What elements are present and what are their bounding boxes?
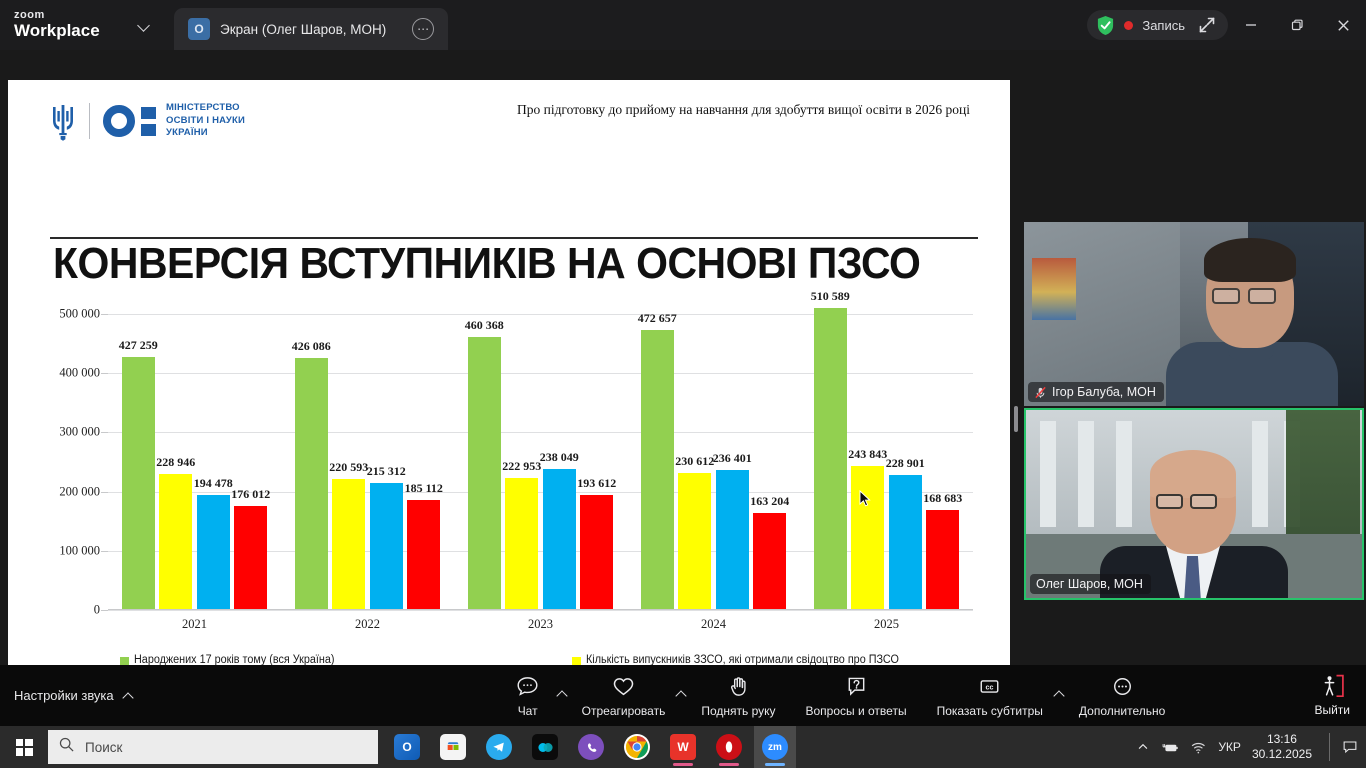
bar-slot: 243 843 (851, 314, 884, 610)
shield-check-icon (1096, 15, 1115, 36)
raise-hand-icon (726, 674, 751, 700)
windows-taskbar: Поиск O (0, 726, 1366, 768)
video-person-glasses-left (1212, 288, 1240, 304)
microsoft-store-icon (440, 734, 466, 760)
page-title: КОНВЕРСІЯ ВСТУПНИКІВ НА ОСНОВІ ПЗСО (53, 239, 918, 289)
clock-time: 13:16 (1252, 732, 1312, 747)
y-tick-label: 300 000 (59, 425, 100, 440)
bar (753, 513, 786, 610)
bar-slot: 238 049 (543, 314, 576, 610)
heart-icon (611, 674, 636, 700)
screen-share-tab[interactable]: O Экран (Олег Шаров, МОН) ⋯ (174, 8, 448, 50)
bar-slot: 176 012 (234, 314, 267, 610)
telegram-icon (486, 734, 512, 760)
app-active-underline (719, 763, 739, 766)
chart-x-axis (108, 609, 973, 610)
bar-group-bars: 460 368222 953238 049193 612 (468, 314, 613, 610)
bar-group-bars: 472 657230 612236 401163 204 (641, 314, 786, 610)
audio-settings-button[interactable]: Настройки звука (14, 688, 134, 703)
y-tick-label: 500 000 (59, 307, 100, 322)
bar-value-label: 215 312 (367, 464, 406, 479)
chat-label: Чат (518, 704, 538, 718)
bar (580, 495, 613, 610)
mon-circle-icon (103, 105, 135, 137)
ukraine-trident-icon (50, 101, 76, 141)
bar-value-label: 510 589 (811, 289, 850, 304)
bar-slot: 215 312 (370, 314, 403, 610)
bar (889, 475, 922, 611)
taskbar-apps: O (386, 726, 796, 768)
bar-slot: 426 086 (295, 314, 328, 610)
qa-label: Вопросы и ответы (806, 704, 907, 718)
bar-value-label: 194 478 (194, 476, 233, 491)
mic-muted-icon (1034, 386, 1047, 399)
windows-start-icon[interactable] (0, 726, 48, 768)
more-button[interactable]: Дополнительно (1071, 674, 1173, 718)
chat-icon (515, 674, 540, 700)
app-active-underline (765, 763, 785, 766)
video-person-hair (1204, 238, 1296, 282)
reactions-label: Отреагировать (582, 704, 666, 718)
bar (407, 500, 440, 610)
bar (197, 495, 230, 610)
close-button[interactable] (1320, 0, 1366, 50)
video-poster (1032, 258, 1076, 320)
participant-name: Олег Шаров, МОН (1036, 577, 1143, 591)
svg-text:cc: cc (986, 684, 994, 692)
bar (716, 470, 749, 610)
captions-button[interactable]: cc Показать субтитры (929, 674, 1051, 718)
bar-group: 460 368222 953238 049193 6122023 (454, 314, 627, 610)
y-tick-mark (101, 492, 108, 493)
ellipsis-circle-icon (1110, 674, 1135, 700)
more-label: Дополнительно (1079, 704, 1165, 718)
x-tick-label: 2024 (701, 617, 726, 632)
expand-icon[interactable] (1198, 16, 1216, 34)
logo-divider (89, 103, 90, 139)
viber-icon (578, 734, 604, 760)
search-placeholder: Поиск (85, 740, 122, 755)
bar-group: 427 259228 946194 478176 0122021 (108, 314, 281, 610)
mon-bars-icon (141, 107, 156, 136)
video-person-glasses-right (1248, 288, 1276, 304)
participant-name: Ігор Балуба, МОН (1052, 385, 1156, 399)
bar-group-bars: 427 259228 946194 478176 012 (122, 314, 267, 610)
video-person-hair (1150, 450, 1236, 498)
taskbar-app-telegram[interactable] (478, 726, 520, 768)
audio-settings-label: Настройки звука (14, 688, 114, 703)
leave-meeting-icon (1318, 673, 1346, 699)
webex-icon (532, 734, 558, 760)
participant-video-oleg[interactable]: Олег Шаров, МОН (1024, 408, 1364, 600)
chat-caret-icon[interactable] (556, 688, 568, 704)
bar (370, 483, 403, 610)
notification-icon[interactable] (1341, 739, 1358, 756)
captions-label: Показать субтитры (937, 704, 1043, 718)
bar-value-label: 228 946 (156, 455, 195, 470)
qa-icon (844, 674, 869, 700)
reactions-caret-icon[interactable] (675, 688, 687, 704)
bar-group: 426 086220 593215 312185 1122022 (281, 314, 454, 610)
clock[interactable]: 13:16 30.12.2025 (1252, 732, 1312, 762)
leave-meeting-button[interactable]: Выйти (1314, 673, 1350, 717)
video-person-glasses-left (1156, 494, 1183, 509)
opera-icon (716, 734, 742, 760)
y-tick-label: 200 000 (59, 484, 100, 499)
restore-button[interactable] (1274, 0, 1320, 50)
bar-slot: 193 612 (580, 314, 613, 610)
mon-mark: МІНІСТЕРСТВО ОСВІТИ І НАУКИ УКРАЇНИ (103, 102, 245, 140)
participant-video-igor[interactable]: Ігор Балуба, МОН (1024, 222, 1364, 406)
bar-value-label: 238 049 (540, 450, 579, 465)
tray-divider (1329, 733, 1330, 761)
zoom-icon: zm (762, 734, 788, 760)
y-tick-label: 0 (94, 603, 100, 618)
language-indicator[interactable]: УКР (1218, 740, 1241, 754)
bar (814, 308, 847, 610)
bar-value-label: 236 401 (713, 451, 752, 466)
bar (468, 337, 501, 610)
taskbar-app-viber[interactable] (570, 726, 612, 768)
bar (926, 510, 959, 610)
bar-slot: 185 112 (407, 314, 440, 610)
bar-slot: 427 259 (122, 314, 155, 610)
chrome-icon (624, 734, 650, 760)
captions-caret-icon[interactable] (1053, 688, 1065, 704)
reactions-button[interactable]: Отреагировать (574, 674, 674, 718)
bar (505, 478, 538, 610)
bar-chart: 0100 000200 000300 000400 000500 000 427… (41, 302, 981, 632)
bar-group: 472 657230 612236 401163 2042024 (627, 314, 800, 610)
y-tick-label: 100 000 (59, 543, 100, 558)
closed-captions-icon: cc (977, 674, 1002, 700)
chart-bar-groups: 427 259228 946194 478176 0122021426 0862… (108, 314, 973, 610)
bar-slot: 228 901 (889, 314, 922, 610)
bar-value-label: 193 612 (577, 476, 616, 491)
qa-button[interactable]: Вопросы и ответы (798, 674, 915, 718)
bar-group: 510 589243 843228 901168 6832025 (800, 314, 973, 610)
ministry-name-line1: МІНІСТЕРСТВО (166, 102, 245, 115)
y-tick-mark (101, 551, 108, 552)
caret-up-icon[interactable] (122, 690, 134, 702)
bar-value-label: 185 112 (405, 481, 443, 496)
tray-chevron-up-icon[interactable] (1134, 739, 1151, 756)
system-tray: УКР 13:16 30.12.2025 (1134, 732, 1366, 762)
wifi-icon[interactable] (1190, 739, 1207, 756)
x-tick-label: 2021 (182, 617, 207, 632)
zoom-logo-line2: Workplace (14, 22, 124, 40)
bar (851, 466, 884, 610)
bar-slot: 168 683 (926, 314, 959, 610)
raise-hand-label: Поднять руку (701, 704, 775, 718)
slide-header: МІНІСТЕРСТВО ОСВІТИ І НАУКИ УКРАЇНИ Про … (41, 90, 980, 152)
video-column (1252, 421, 1268, 526)
x-tick-label: 2022 (355, 617, 380, 632)
bar-value-label: 426 086 (292, 339, 331, 354)
recording-indicator[interactable]: Запись (1087, 10, 1228, 40)
more-options-icon[interactable]: ⋯ (412, 18, 434, 40)
taskbar-app-chrome[interactable] (616, 726, 658, 768)
bar (678, 473, 711, 610)
participant-name-badge: Ігор Балуба, МОН (1028, 382, 1164, 402)
titlebar-right-controls: Запись (1087, 0, 1366, 50)
bar-group-bars: 510 589243 843228 901168 683 (814, 314, 959, 610)
bar-value-label: 222 953 (502, 459, 541, 474)
bar-slot: 222 953 (505, 314, 538, 610)
bar-slot: 510 589 (814, 314, 847, 610)
participant-name-badge: Олег Шаров, МОН (1030, 574, 1151, 594)
search-input[interactable]: Поиск (48, 730, 378, 764)
bar (543, 469, 576, 610)
bar-value-label: 228 901 (886, 456, 925, 471)
gridline (108, 610, 973, 611)
x-tick-label: 2025 (874, 617, 899, 632)
mouse-cursor (859, 490, 871, 508)
bar (295, 358, 328, 610)
minimize-button[interactable] (1228, 0, 1274, 50)
ministry-name: МІНІСТЕРСТВО ОСВІТИ І НАУКИ УКРАЇНИ (166, 102, 245, 140)
bar-value-label: 472 657 (638, 311, 677, 326)
screen-share-tab-label: Экран (Олег Шаров, МОН) (220, 22, 386, 37)
recording-label: Запись (1142, 18, 1185, 33)
bar-slot: 460 368 (468, 314, 501, 610)
ministry-name-line3: УКРАЇНИ (166, 127, 245, 140)
slide-subtitle: Про підготовку до прийому на навчання дл… (517, 102, 970, 118)
bar-value-label: 460 368 (465, 318, 504, 333)
taskbar-app-wps[interactable]: W (662, 726, 704, 768)
search-icon (58, 736, 75, 758)
bar (122, 357, 155, 610)
taskbar-app-store[interactable] (432, 726, 474, 768)
outlook-icon: O (394, 734, 420, 760)
taskbar-app-zoom[interactable]: zm (754, 726, 796, 768)
bar-slot: 230 612 (678, 314, 711, 610)
shared-screen-stage: МІНІСТЕРСТВО ОСВІТИ І НАУКИ УКРАЇНИ Про … (0, 50, 1366, 665)
y-tick-mark (101, 432, 108, 433)
bar-slot: 194 478 (197, 314, 230, 610)
video-column (1040, 421, 1056, 526)
wps-office-icon: W (670, 734, 696, 760)
chart-plot-area: 0100 000200 000300 000400 000500 000 427… (108, 314, 973, 610)
video-column (1116, 421, 1132, 526)
y-tick-mark (101, 373, 108, 374)
bar-slot: 228 946 (159, 314, 192, 610)
y-tick-mark (101, 314, 108, 315)
bar-value-label: 220 593 (329, 460, 368, 475)
bar-value-label: 176 012 (231, 487, 270, 502)
taskbar-app-webex[interactable] (524, 726, 566, 768)
recording-dot-icon (1124, 21, 1133, 30)
zoom-logo: zoom Workplace (14, 10, 124, 39)
bar-value-label: 230 612 (675, 454, 714, 469)
y-tick-label: 400 000 (59, 366, 100, 381)
taskbar-app-opera[interactable] (708, 726, 750, 768)
raise-hand-button[interactable]: Поднять руку (693, 674, 783, 718)
bar-value-label: 163 204 (750, 494, 789, 509)
bar (332, 479, 365, 610)
bar-slot: 472 657 (641, 314, 674, 610)
ministry-logo: МІНІСТЕРСТВО ОСВІТИ І НАУКИ УКРАЇНИ (50, 101, 245, 141)
bar-slot: 236 401 (716, 314, 749, 610)
leave-label: Выйти (1314, 703, 1350, 717)
chat-button[interactable]: Чат (502, 674, 554, 718)
app-active-underline (673, 763, 693, 766)
zoom-controls: Чат Отреагировать Поднять руку (502, 674, 1174, 718)
bar-slot: 163 204 (753, 314, 786, 610)
bar-value-label: 168 683 (923, 491, 962, 506)
panel-drag-handle[interactable] (1014, 406, 1018, 432)
bar-value-label: 427 259 (119, 338, 158, 353)
battery-charging-icon[interactable] (1162, 739, 1179, 756)
bar (641, 330, 674, 610)
avatar: O (188, 18, 210, 40)
bar (159, 474, 192, 610)
ministry-name-line2: ОСВІТИ І НАУКИ (166, 115, 245, 128)
video-person-glasses-right (1190, 494, 1217, 509)
taskbar-app-outlook[interactable]: O (386, 726, 428, 768)
clock-date: 30.12.2025 (1252, 747, 1312, 762)
x-tick-label: 2023 (528, 617, 553, 632)
bar-value-label: 243 843 (848, 447, 887, 462)
presentation-slide[interactable]: МІНІСТЕРСТВО ОСВІТИ І НАУКИ УКРАЇНИ Про … (8, 80, 1010, 695)
y-tick-mark (101, 610, 108, 611)
bar (234, 506, 267, 610)
bar-slot: 220 593 (332, 314, 365, 610)
video-column (1078, 421, 1094, 526)
zoom-title-bar: zoom Workplace O Экран (Олег Шаров, МОН)… (0, 0, 1366, 50)
chevron-down-icon[interactable] (136, 17, 152, 33)
bar-group-bars: 426 086220 593215 312185 112 (295, 314, 440, 610)
zoom-control-bar: Настройки звука Чат Отреагировать (0, 665, 1366, 726)
